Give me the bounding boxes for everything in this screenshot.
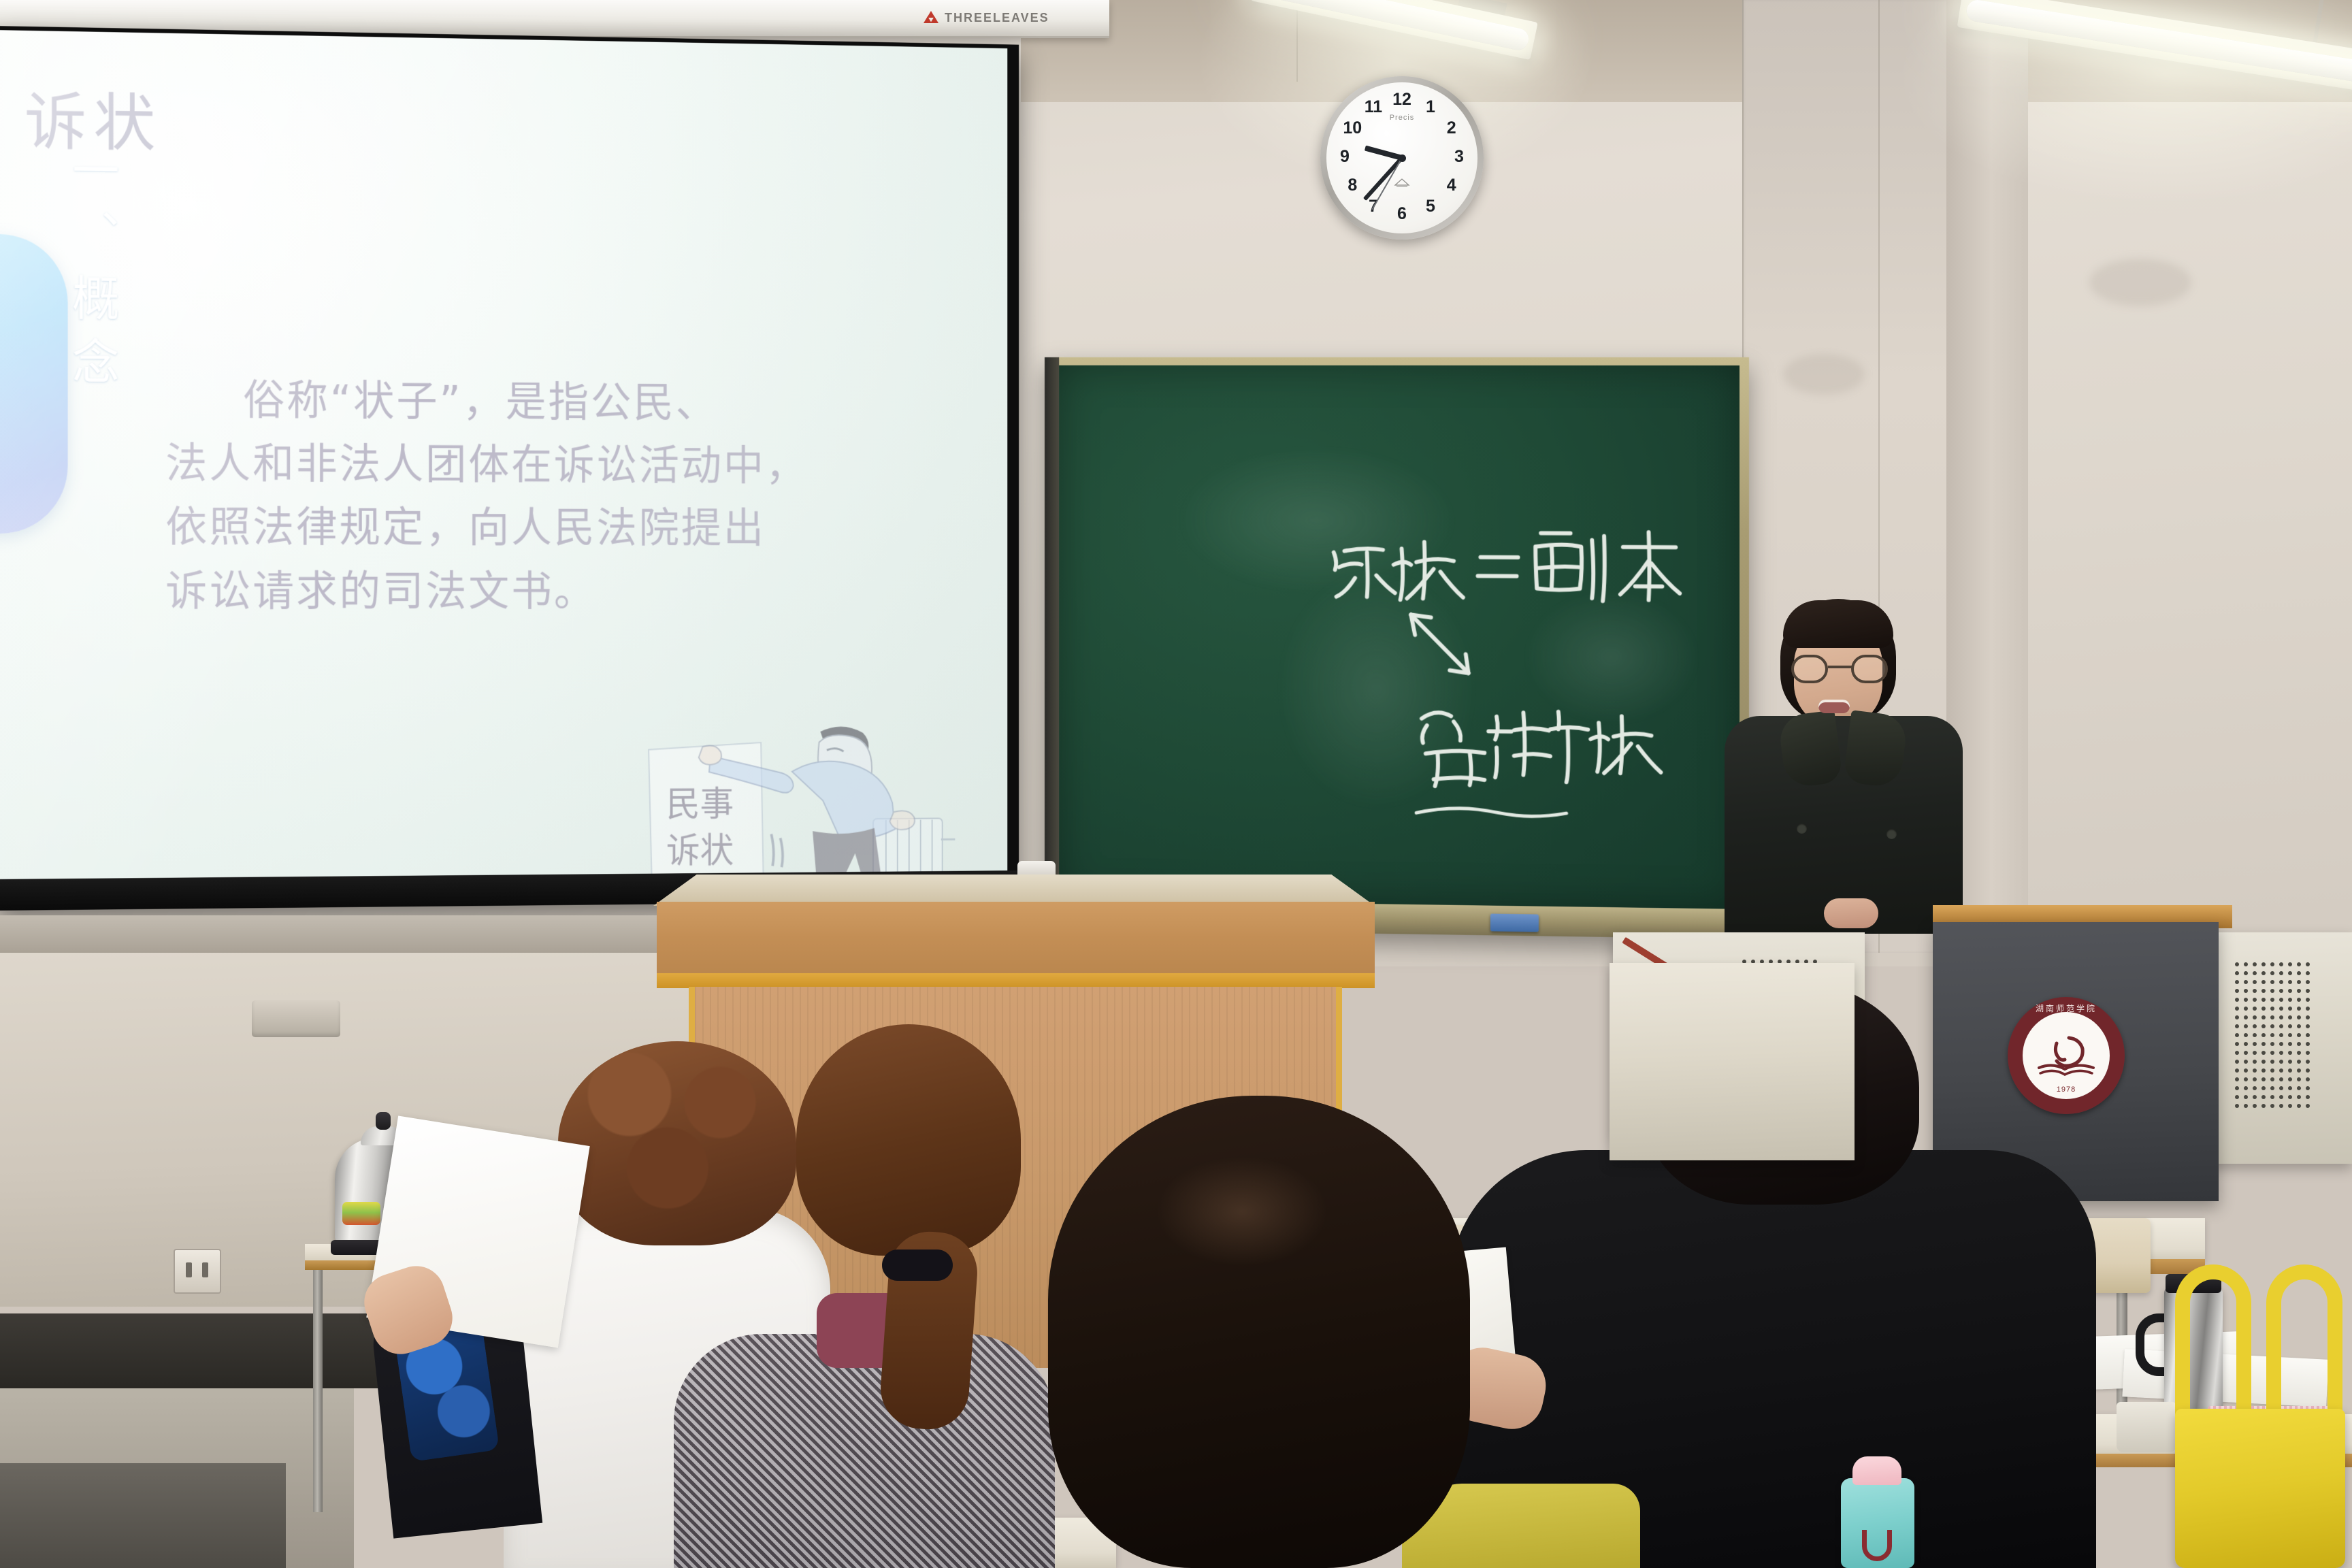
speaker-grill-hole [2306, 1033, 2310, 1037]
projection-screen: 诉状 一、概念 俗称“状子”，是指公民、 法人和非法人团体在诉讼活动中， 依照法… [0, 26, 1019, 911]
speaker-grill-hole [2244, 971, 2248, 975]
speaker-grill-hole [2253, 1007, 2257, 1011]
speaker-grill-hole [2297, 998, 2301, 1002]
speaker-grill-hole [2306, 1077, 2310, 1081]
speaker-grill-hole [2288, 1060, 2292, 1064]
teacher-glasses-icon [1791, 655, 1888, 683]
speaker-grill-hole [2279, 1015, 2283, 1019]
tote-bag-handle-right [2266, 1264, 2342, 1425]
clock-numeral: 10 [1311, 118, 1393, 138]
speaker-grill-hole [2297, 1033, 2301, 1037]
speaker-grill-hole [2306, 1068, 2310, 1073]
speaker-grill-hole [2279, 1042, 2283, 1046]
speaker-grill-hole [2297, 962, 2301, 966]
speaker-grill-hole [2253, 1015, 2257, 1019]
glasses-lens-right [1851, 655, 1888, 683]
outlet-slot [202, 1262, 208, 1277]
speaker-grill-hole [2288, 980, 2292, 984]
speaker-grill-hole [2279, 1104, 2283, 1108]
teacher-mouth [1818, 700, 1850, 713]
speaker-grill-hole [2279, 1068, 2283, 1073]
speaker-grill-hole [2288, 1042, 2292, 1046]
speaker-grill-hole [2306, 1104, 2310, 1108]
speaker-grill-hole [2270, 980, 2274, 984]
speaker-grill-hole [2270, 962, 2274, 966]
emblem-year: 1978 [2008, 1085, 2125, 1094]
speaker-grill-hole [2288, 962, 2292, 966]
speaker-grill-hole [2270, 1042, 2274, 1046]
yellow-tote-bag [2166, 1264, 2352, 1568]
speaker-grill-hole [2270, 1033, 2274, 1037]
slide-line-4: 诉讼请求的司法文书。 [165, 559, 830, 623]
classroom-photo: Precis 121234567891011 THREELEAVES 诉状 [0, 0, 2352, 1568]
tote-bag-handle-left [2175, 1264, 2251, 1425]
speaker-grill-hole [2244, 1024, 2248, 1028]
speaker-grill-hole [2261, 1068, 2266, 1073]
speaker-grill-hole [2288, 1095, 2292, 1099]
speaker-grill-hole [2288, 1104, 2292, 1108]
speaker-grill-hole [2261, 1024, 2266, 1028]
speaker-grill-hole [2261, 1007, 2266, 1011]
speaker-grill-hole [2244, 1086, 2248, 1090]
speaker-grill-hole [2244, 1068, 2248, 1073]
speaker-grill-hole [2235, 998, 2239, 1002]
speaker-grill-hole [2297, 1024, 2301, 1028]
water-bottle-cap [1852, 1456, 1901, 1485]
speaker-grill-hole [2261, 980, 2266, 984]
lectern-accent-band [657, 973, 1375, 988]
speaker-grill-hole [2297, 1007, 2301, 1011]
speaker-grill-hole [2288, 971, 2292, 975]
speaker-grill-hole [2297, 971, 2301, 975]
speaker-grill-hole [2306, 1051, 2310, 1055]
screen-brand-text: THREELEAVES [945, 11, 1049, 25]
glasses-lens-left [1791, 655, 1828, 683]
speaker-grill-hole [2270, 1104, 2274, 1108]
speaker-grill-hole [2297, 1086, 2301, 1090]
speaker-grill-hole [2253, 1033, 2257, 1037]
wall-scuff [1783, 354, 1865, 395]
speaker-grill-hole [2288, 998, 2292, 1002]
speaker-grill-hole [2235, 989, 2239, 993]
speaker-grill-hole [2244, 980, 2248, 984]
audience-woman1-head [558, 1041, 796, 1245]
glasses-bridge [1828, 666, 1852, 668]
teacher-fringe [1783, 600, 1893, 648]
speaker-grill-hole [2261, 989, 2266, 993]
teacher-hands [1824, 898, 1878, 928]
speaker-grill-hole [2270, 1077, 2274, 1081]
clock-center-pin [1399, 154, 1406, 162]
speaker-grill-hole [2261, 971, 2266, 975]
slide-section-tab-label: 一、概念 [59, 145, 127, 401]
speaker-grill-hole [2288, 989, 2292, 993]
speaker-grill-hole [2235, 1104, 2239, 1108]
speaker-grill-hole [2288, 1077, 2292, 1081]
outlet-slot [186, 1262, 192, 1277]
wall-outlet [174, 1249, 221, 1294]
speaker-grill-hole [2297, 1068, 2301, 1073]
slide-body-text: 俗称“状子”，是指公民、 法人和非法人团体在诉讼活动中， 依照法律规定，向人民法… [165, 368, 830, 623]
speaker-grill-hole [2297, 1104, 2301, 1108]
speaker-grill-hole [2306, 1060, 2310, 1064]
speaker-grill-hole [2270, 1024, 2274, 1028]
teacher-coat-button [1797, 823, 1807, 834]
side-table-leg [313, 1267, 323, 1512]
speaker-grill-hole [2253, 1086, 2257, 1090]
clock-numeral: 2 [1411, 118, 1492, 138]
tote-bag-body [2175, 1409, 2345, 1568]
speaker-grill-hole [2244, 998, 2248, 1002]
speaker-grill-hole [2306, 1007, 2310, 1011]
speaker-grill-hole [2270, 1068, 2274, 1073]
slide-line-1: 俗称“状子”，是指公民、 [165, 368, 830, 436]
speaker-grill-hole [2253, 1104, 2257, 1108]
speaker-grill-hole [2253, 1077, 2257, 1081]
wall-clock: Precis 121234567891011 [1320, 76, 1484, 240]
speaker-grill-hole [2270, 1086, 2274, 1090]
clock-numeral: 3 [1418, 147, 1500, 167]
speaker-grill-hole [2235, 971, 2239, 975]
speaker-grill-hole [2306, 1042, 2310, 1046]
chalk-smudge [1177, 446, 1456, 595]
speaker-grill-hole [2235, 962, 2239, 966]
speaker-grill-hole [2297, 980, 2301, 984]
wall-vent-unit [1610, 963, 1855, 1160]
speaker-grill-hole [2306, 1024, 2310, 1028]
speaker-grill-hole [2235, 1077, 2239, 1081]
speaker-grill-hole [2253, 1068, 2257, 1073]
three-leaf-logo-icon [922, 10, 940, 26]
hair-tie [882, 1249, 953, 1281]
speaker-grill-hole [2279, 980, 2283, 984]
blackboard-left-edge [1045, 357, 1059, 929]
speaker-grill-hole [2244, 1051, 2248, 1055]
speaker-grill-hole [2306, 962, 2310, 966]
speaker-grill-hole [2270, 1015, 2274, 1019]
speaker-grill-hole [2279, 962, 2283, 966]
speaker-grill-hole [2253, 980, 2257, 984]
clock-face: Precis 121234567891011 [1326, 82, 1477, 233]
speaker-grill-hole [2279, 1024, 2283, 1028]
speaker-grill-hole [2306, 1086, 2310, 1090]
speaker-grill-hole [2235, 1007, 2239, 1011]
speaker-grill-hole [2279, 971, 2283, 975]
audience-woman2-jacket [674, 1334, 1055, 1568]
speaker-grill-hole [2261, 1033, 2266, 1037]
speaker-grill-hole [2297, 1042, 2301, 1046]
speaker-grill-hole [2279, 998, 2283, 1002]
chalk-eraser[interactable] [1490, 914, 1539, 932]
speaker-grill-hole [2279, 989, 2283, 993]
speaker-grill-hole [2279, 1060, 2283, 1064]
slide-line-3: 依照法律规定，向人民法院提出 [165, 495, 830, 560]
speaker-grill-hole [2279, 1077, 2283, 1081]
speaker-grill-hole [2244, 962, 2248, 966]
slide-surface: 诉状 一、概念 俗称“状子”，是指公民、 法人和非法人团体在诉讼活动中， 依照法… [0, 30, 1007, 879]
speaker-grill-hole [2261, 1104, 2266, 1108]
speaker-grill-hole [2288, 1086, 2292, 1090]
speaker-grill-hole [2244, 1042, 2248, 1046]
speaker-grill-hole [2297, 989, 2301, 993]
speaker-grill-hole [2306, 1015, 2310, 1019]
wall-speaker-right [2205, 932, 2352, 1164]
speaker-grill-hole [2261, 1086, 2266, 1090]
speaker-grill-hole [2235, 1015, 2239, 1019]
speaker-grill-hole [2244, 1104, 2248, 1108]
speaker-grill-hole [2261, 1095, 2266, 1099]
stage-kickplate [0, 1313, 381, 1388]
speaker-grill-hole [2235, 1095, 2239, 1099]
speaker-grill-hole [2244, 1015, 2248, 1019]
speaker-grill-hole [2253, 962, 2257, 966]
speaker-grill-hole [2270, 998, 2274, 1002]
teacher-coat-button [1886, 829, 1897, 839]
speaker-grill-hole [2253, 1024, 2257, 1028]
speaker-grill-hole [2235, 1060, 2239, 1064]
blackboard [1045, 357, 1749, 939]
school-emblem: 湖南师范学院 1978 [2008, 997, 2125, 1114]
stage-edge-band [0, 915, 694, 956]
speaker-grill-hole [2306, 998, 2310, 1002]
clock-numeral: 4 [1411, 176, 1492, 195]
speaker-grill-hole [2261, 1077, 2266, 1081]
screen-brand: THREELEAVES [922, 10, 1049, 26]
clock-logo-icon [1393, 178, 1411, 187]
cartoon-poster-line-1: 民事 [666, 785, 734, 825]
speaker-grill-hole [2270, 1095, 2274, 1099]
speaker-grill-hole [2306, 989, 2310, 993]
speaker-grill-hole [2244, 1033, 2248, 1037]
speaker-grill-hole [2253, 1051, 2257, 1055]
lectern-front-face [657, 902, 1375, 982]
speaker-grill-hole [2235, 1051, 2239, 1055]
speaker-grill-hole [2279, 1051, 2283, 1055]
speaker-grill-hole [2261, 1015, 2266, 1019]
speaker-grill-hole [2261, 962, 2266, 966]
kettle-label-sticker [342, 1202, 380, 1225]
speaker-grill-hole [2270, 1051, 2274, 1055]
speaker-grill-hole [2288, 1051, 2292, 1055]
speaker-grill-hole [2235, 1068, 2239, 1073]
speaker-grill-hole [2253, 1060, 2257, 1064]
speaker-grill-hole [2288, 1033, 2292, 1037]
speaker-grill-hole [2288, 1015, 2292, 1019]
speaker-grill-hole [2270, 1060, 2274, 1064]
speaker-grill-hole [2261, 1051, 2266, 1055]
speaker-grill-hole [2270, 971, 2274, 975]
water-bottle-logo-icon [1862, 1530, 1892, 1561]
speaker-grill-hole [2297, 1077, 2301, 1081]
slide-line-2: 法人和非法人团体在诉讼活动中， [165, 432, 830, 498]
speaker-grill-hole [2253, 989, 2257, 993]
speaker-grill-hole [2235, 1033, 2239, 1037]
floor-step [0, 1463, 286, 1568]
slide-cartoon-illustration: 民事 诉状 [632, 707, 955, 879]
speaker-grill-hole [2279, 1007, 2283, 1011]
speaker-grill-hole [2235, 1042, 2239, 1046]
speaker-grill-hole [2253, 1095, 2257, 1099]
speaker-grill-hole [2288, 1007, 2292, 1011]
clock-numeral: 11 [1333, 97, 1414, 117]
speaker-grill-hole [2261, 1042, 2266, 1046]
speaker-grill-hole [2244, 1095, 2248, 1099]
speaker-grill-hole [2279, 1033, 2283, 1037]
speaker-grill-hole [2297, 1060, 2301, 1064]
speaker-grill-hole [2235, 980, 2239, 984]
crane-icon [2033, 1031, 2099, 1080]
speaker-grill-hole [2306, 980, 2310, 984]
speaker-grill-hole [2253, 1042, 2257, 1046]
speaker-grill-hole [2297, 1015, 2301, 1019]
speaker-grill-hole [2279, 1086, 2283, 1090]
speaker-grill-hole [2270, 989, 2274, 993]
speaker-grill-hole [2261, 998, 2266, 1002]
speaker-grill-hole [2244, 1007, 2248, 1011]
speaker-grill-hole [2253, 998, 2257, 1002]
chalk-smudge [1277, 567, 1477, 811]
blackboard-surface [1059, 365, 1739, 909]
speaker-grill-hole [2253, 971, 2257, 975]
slide-section-tab [0, 233, 68, 534]
speaker-grill-hole [2297, 1095, 2301, 1099]
speaker-grill-hole [2297, 1051, 2301, 1055]
cartoon-poster-line-2: 诉状 [666, 831, 734, 871]
speaker-grill-hole [2244, 989, 2248, 993]
speaker-grill-hole [2235, 1086, 2239, 1090]
speaker-grill [2235, 962, 2317, 1126]
speaker-grill-hole [2244, 1077, 2248, 1081]
speaker-grill-hole [2270, 1007, 2274, 1011]
audience-woman2-head [796, 1024, 1021, 1256]
wall-duct [252, 1000, 340, 1037]
wall-scuff [2089, 259, 2191, 306]
speaker-grill-hole [2261, 1060, 2266, 1064]
speaker-grill-hole [2288, 1068, 2292, 1073]
speaker-grill-hole [2244, 1060, 2248, 1064]
hair-highlight [1157, 1157, 1327, 1266]
chalk-smudge [1524, 589, 1699, 725]
speaker-grill-hole [2306, 971, 2310, 975]
speaker-grill-hole [2306, 1095, 2310, 1099]
speaker-grill-hole [2235, 1024, 2239, 1028]
presenter-teacher [1715, 599, 1987, 926]
speaker-grill-hole [2288, 1024, 2292, 1028]
kettle-knob [376, 1112, 391, 1130]
speaker-grill-hole [2279, 1095, 2283, 1099]
